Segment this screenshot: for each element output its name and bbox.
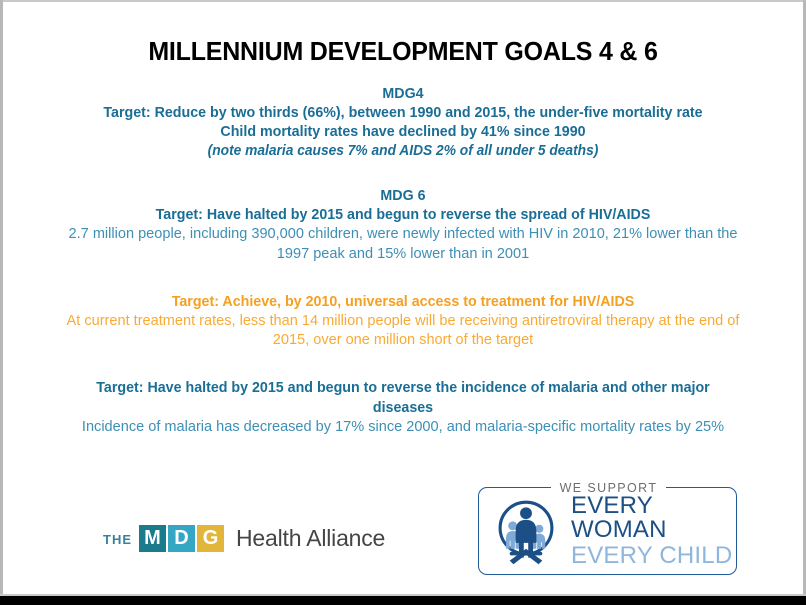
ewec-inner: EVERY WOMAN EVERY CHILD (479, 488, 736, 574)
mdg4-heading: MDG4 (44, 84, 762, 103)
treatment-stat: At current treatment rates, less than 14… (64, 311, 743, 349)
malaria-stat: Incidence of malaria has decreased by 17… (59, 417, 748, 436)
every-woman-every-child-logo: WE SUPPORT (478, 487, 737, 575)
mdg-health-alliance-logo: THE M D G Health Alliance (103, 525, 385, 552)
ewec-we-support-label: WE SUPPORT (479, 479, 738, 497)
mdg-logo-the: THE (103, 532, 132, 547)
ewec-we-support-text: WE SUPPORT (551, 481, 667, 495)
ewec-line-every-woman: EVERY WOMAN (571, 494, 736, 542)
malaria-block: Target: Have halted by 2015 and begun to… (3, 378, 803, 436)
mdg6-heading: MDG 6 (44, 186, 762, 205)
mdg4-stat: Child mortality rates have declined by 4… (44, 122, 762, 141)
slide-frame: MILLENNIUM DEVELOPMENT GOALS 4 & 6 MDG4 … (0, 0, 806, 605)
mdg4-block: MDG4 Target: Reduce by two thirds (66%),… (3, 84, 803, 160)
mdg-logo-letter-boxes: M D G (139, 525, 226, 552)
slide-content: MILLENNIUM DEVELOPMENT GOALS 4 & 6 MDG4 … (3, 2, 803, 585)
mdg4-target: Target: Reduce by two thirds (66%), betw… (44, 103, 762, 122)
mdg-logo-box-g: G (197, 525, 224, 552)
mdg4-note: (note malaria causes 7% and AIDS 2% of a… (44, 142, 762, 161)
malaria-target: Target: Have halted by 2015 and begun to… (75, 378, 731, 416)
mdg6-stat: 2.7 million people, including 390,000 ch… (59, 224, 748, 262)
mdg-logo-box-m: M (139, 525, 166, 552)
footer-logos: THE M D G Health Alliance WE SUPPORT (3, 480, 803, 585)
ewec-line-every-child: EVERY CHILD (571, 544, 736, 568)
page-bottom-black-band (0, 596, 806, 605)
treatment-target: Target: Achieve, by 2010, universal acce… (44, 292, 762, 311)
mother-and-children-circle-icon (489, 494, 563, 568)
ewec-wordmark: EVERY WOMAN EVERY CHILD (571, 494, 736, 568)
slide-title: MILLENNIUM DEVELOPMENT GOALS 4 & 6 (19, 36, 787, 67)
mdg-logo-box-d: D (168, 525, 195, 552)
mdg6-target: Target: Have halted by 2015 and begun to… (44, 205, 762, 224)
treatment-block: Target: Achieve, by 2010, universal acce… (3, 292, 803, 350)
mdg6-block: MDG 6 Target: Have halted by 2015 and be… (3, 186, 803, 263)
mdg-logo-tagline: Health Alliance (236, 525, 385, 552)
